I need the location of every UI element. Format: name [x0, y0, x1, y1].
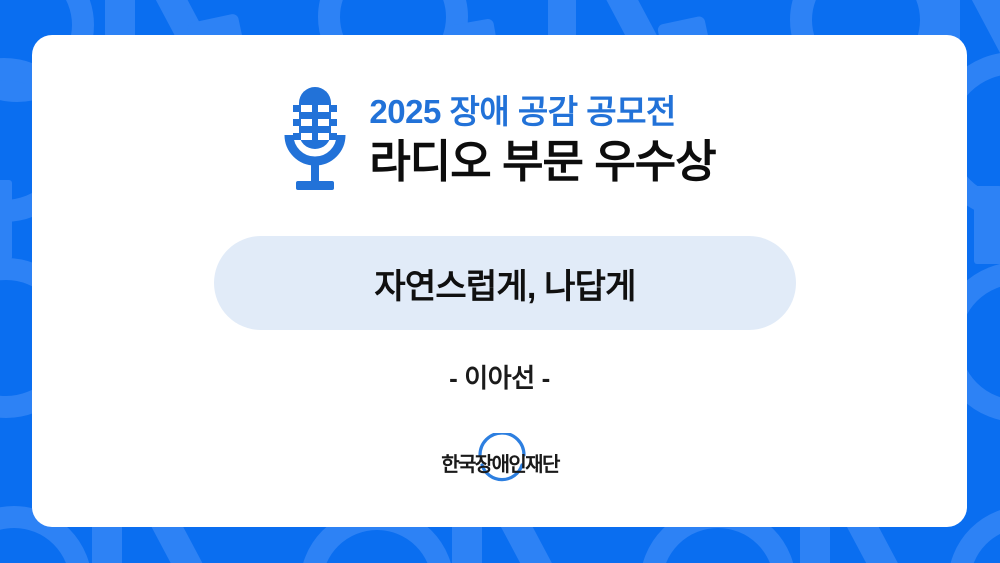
microphone-icon [283, 85, 347, 195]
organization-logo: 한국장애인재단 [32, 433, 967, 485]
work-title-text: 자연스럽게, 나답게 [374, 259, 635, 308]
author-name: - 이아선 - [449, 363, 550, 393]
pattern-bar [974, 186, 1000, 264]
award-card: 2025 장애 공감 공모전 라디오 부문 우수상 자연스럽게, 나답게 - 이… [32, 35, 967, 527]
pattern-bar [0, 180, 12, 260]
header-titles: 2025 장애 공감 공모전 라디오 부문 우수상 [369, 91, 715, 188]
slide-canvas: 2025 장애 공감 공모전 라디오 부문 우수상 자연스럽게, 나답게 - 이… [0, 0, 1000, 563]
author-row: - 이아선 - [32, 358, 967, 395]
korea-disability-foundation-logo-icon: 한국장애인재단 [425, 433, 575, 485]
svg-text:한국장애인재단: 한국장애인재단 [441, 452, 561, 476]
card-header: 2025 장애 공감 공모전 라디오 부문 우수상 [32, 85, 967, 195]
work-title-pill: 자연스럽게, 나답게 [214, 236, 796, 330]
award-category-title: 라디오 부문 우수상 [369, 135, 715, 189]
contest-name: 2025 장애 공감 공모전 [369, 91, 675, 132]
